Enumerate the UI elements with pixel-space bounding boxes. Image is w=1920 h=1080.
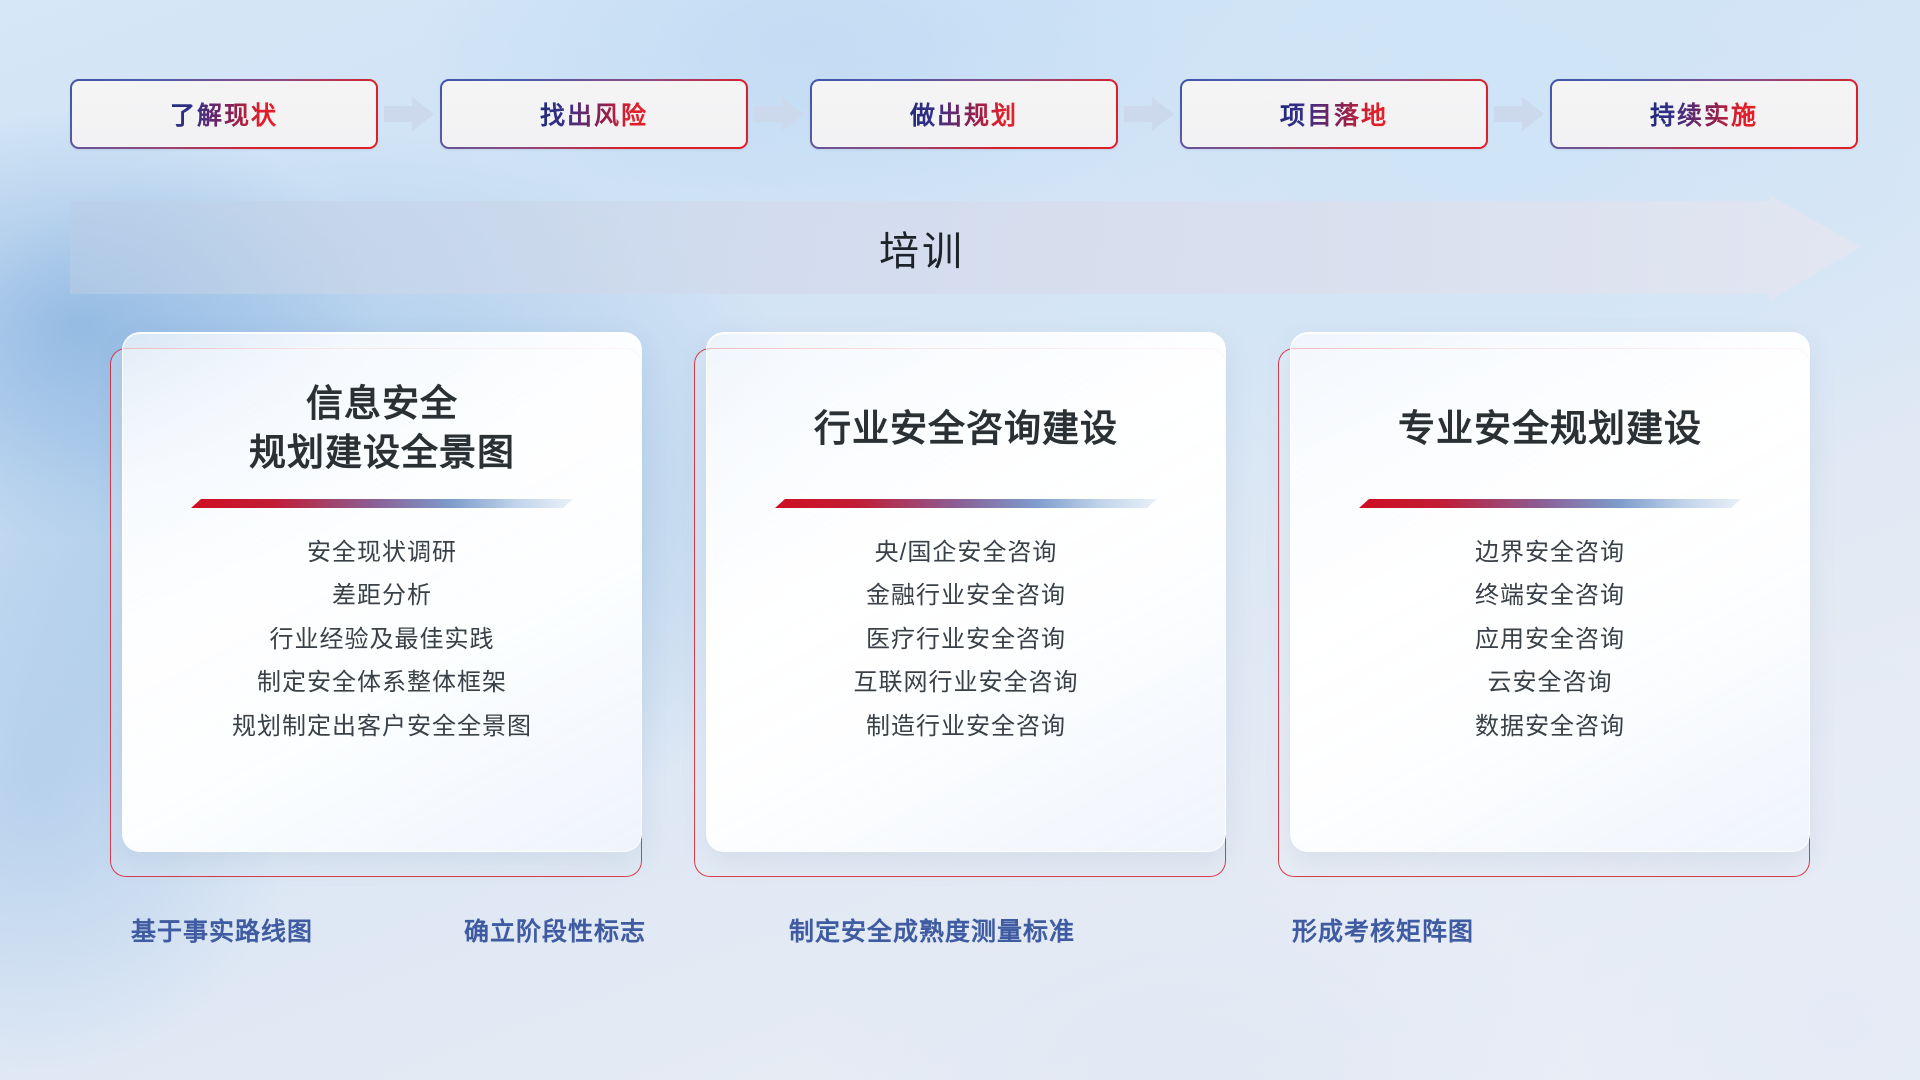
card-title-line: 规划建设全景图 (249, 429, 515, 478)
flow-step-3[interactable]: 做出规划 (810, 79, 1118, 149)
footer-label-row: 基于事实路线图 确立阶段性标志 制定安全成熟度测量标准 形成考核矩阵图 (0, 912, 1920, 956)
flow-step-2[interactable]: 找出风险 (440, 79, 748, 149)
process-flow-row: 了解现状 找出风险 做出规划 项目落地 (70, 78, 1860, 150)
training-label: 培训 (879, 219, 965, 277)
card-divider (191, 499, 573, 508)
footer-label: 制定安全成熟度测量标准 (789, 912, 1075, 948)
list-item: 金融行业安全咨询 (866, 583, 1066, 609)
footer-label: 基于事实路线图 (131, 912, 313, 948)
flow-step-4[interactable]: 项目落地 (1180, 79, 1488, 149)
capability-cards: 信息安全 规划建设全景图 (110, 332, 1810, 877)
list-item: 安全现状调研 (307, 540, 457, 566)
list-item: 制定安全体系整体框架 (257, 670, 507, 696)
list-item: 数据安全咨询 (1475, 714, 1625, 740)
card-1-wrapper: 信息安全 规划建设全景图 (110, 332, 642, 877)
arrow-right-icon (378, 94, 440, 134)
arrow-right-icon (1488, 94, 1550, 134)
arrow-right-icon (1118, 94, 1180, 134)
card-3-wrapper: 专业安全规划建设 (1278, 332, 1810, 877)
flow-step-label: 项目落地 (1280, 96, 1388, 132)
card-title: 信息安全 规划建设全景图 (249, 377, 515, 481)
list-item: 行业经验及最佳实践 (270, 627, 495, 653)
footer-label: 确立阶段性标志 (464, 912, 646, 948)
list-item: 差距分析 (332, 583, 432, 609)
flow-step-label: 持续实施 (1650, 96, 1758, 132)
flow-step-label: 找出风险 (540, 96, 648, 132)
card-divider (1359, 499, 1741, 508)
card-item-list: 安全现状调研 差距分析 行业经验及最佳实践 制定安全体系整体框架 规划制定出客户… (232, 540, 532, 740)
list-item: 规划制定出客户安全全景图 (232, 714, 532, 740)
card-item-list: 央/国企安全咨询 金融行业安全咨询 医疗行业安全咨询 互联网行业安全咨询 制造行… (854, 540, 1079, 740)
card-title-line: 信息安全 (249, 380, 515, 429)
card-title: 专业安全规划建设 (1398, 377, 1702, 481)
card-title-line: 行业安全咨询建设 (814, 405, 1118, 454)
card-industry-security-consulting[interactable]: 行业安全咨询建设 (706, 332, 1226, 852)
footer-label: 形成考核矩阵图 (1292, 912, 1474, 948)
arrow-right-icon (748, 94, 810, 134)
flow-step-label: 做出规划 (910, 96, 1018, 132)
list-item: 云安全咨询 (1488, 670, 1613, 696)
list-item: 医疗行业安全咨询 (866, 627, 1066, 653)
card-item-list: 边界安全咨询 终端安全咨询 应用安全咨询 云安全咨询 数据安全咨询 (1475, 540, 1625, 740)
slide-canvas: 了解现状 找出风险 做出规划 项目落地 (0, 0, 1920, 1080)
card-divider (775, 499, 1157, 508)
card-professional-security-planning[interactable]: 专业安全规划建设 (1290, 332, 1810, 852)
flow-step-1[interactable]: 了解现状 (70, 79, 378, 149)
card-title: 行业安全咨询建设 (814, 377, 1118, 481)
list-item: 终端安全咨询 (1475, 583, 1625, 609)
training-band: 培训 (70, 195, 1860, 300)
list-item: 互联网行业安全咨询 (854, 670, 1079, 696)
list-item: 央/国企安全咨询 (875, 540, 1058, 566)
card-title-line: 专业安全规划建设 (1398, 405, 1702, 454)
flow-step-label: 了解现状 (170, 96, 278, 132)
flow-step-5[interactable]: 持续实施 (1550, 79, 1858, 149)
list-item: 边界安全咨询 (1475, 540, 1625, 566)
card-2-wrapper: 行业安全咨询建设 (694, 332, 1226, 877)
list-item: 制造行业安全咨询 (866, 714, 1066, 740)
list-item: 应用安全咨询 (1475, 627, 1625, 653)
card-information-security-blueprint[interactable]: 信息安全 规划建设全景图 (122, 332, 642, 852)
band-label-wrapper: 培训 (70, 195, 1774, 300)
